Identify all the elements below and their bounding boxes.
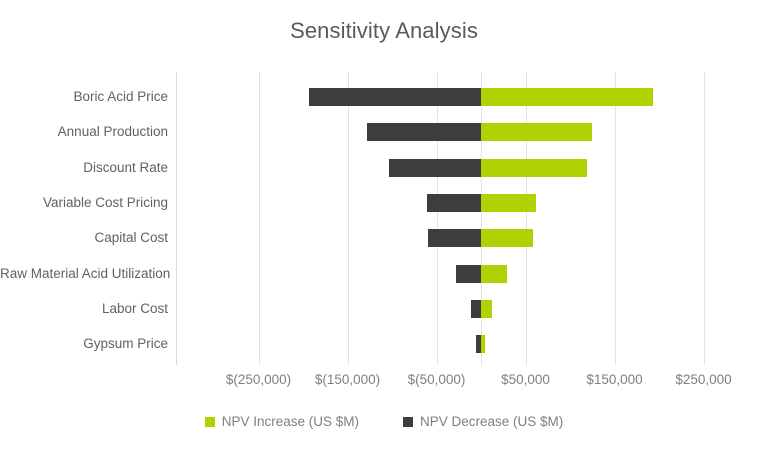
bar-increase xyxy=(481,300,492,318)
category-label: Gypsum Price xyxy=(0,336,168,352)
bar-decrease xyxy=(309,88,481,106)
plot-area xyxy=(176,72,746,365)
bar-increase xyxy=(481,159,587,177)
x-tick-label: $(50,000) xyxy=(408,372,466,387)
bar-increase xyxy=(481,335,485,353)
category-label: Boric Acid Price xyxy=(0,89,168,105)
category-label: Capital Cost xyxy=(0,230,168,246)
gridline-2 xyxy=(437,72,438,365)
category-axis-line xyxy=(176,72,177,365)
legend-entry[interactable]: NPV Decrease (US $M) xyxy=(403,414,563,429)
bar-decrease xyxy=(427,194,481,212)
x-axis-tick-labels: $(250,000)$(150,000)$(50,000)$50,000$150… xyxy=(0,372,768,394)
bar-decrease xyxy=(456,265,481,283)
bar-increase xyxy=(481,123,592,141)
bar-increase xyxy=(481,194,536,212)
bar-row xyxy=(176,300,746,318)
bar-row xyxy=(176,159,746,177)
bar-decrease xyxy=(367,123,481,141)
gridline-5 xyxy=(704,72,705,365)
bar-row xyxy=(176,229,746,247)
bar-increase xyxy=(481,265,507,283)
gridline-3 xyxy=(526,72,527,365)
chart-legend: NPV Increase (US $M)NPV Decrease (US $M) xyxy=(0,414,768,429)
x-tick-label: $(150,000) xyxy=(315,372,380,387)
x-tick-label: $(250,000) xyxy=(226,372,291,387)
bar-row xyxy=(176,194,746,212)
x-tick-label: $150,000 xyxy=(586,372,642,387)
category-axis: Boric Acid PriceAnnual ProductionDiscoun… xyxy=(0,72,168,365)
bar-row xyxy=(176,265,746,283)
bar-decrease xyxy=(428,229,481,247)
bar-decrease xyxy=(471,300,481,318)
legend-label: NPV Increase (US $M) xyxy=(222,414,359,429)
legend-swatch-icon xyxy=(205,417,215,427)
category-label: Annual Production xyxy=(0,124,168,140)
bar-increase xyxy=(481,229,533,247)
category-label: Labor Cost xyxy=(0,301,168,317)
legend-swatch-icon xyxy=(403,417,413,427)
chart-title: Sensitivity Analysis xyxy=(0,18,768,44)
bar-increase xyxy=(481,88,653,106)
bar-row xyxy=(176,88,746,106)
x-tick-label: $50,000 xyxy=(501,372,550,387)
legend-label: NPV Decrease (US $M) xyxy=(420,414,563,429)
category-label: Raw Material Acid Utilization xyxy=(0,266,168,282)
legend-entry[interactable]: NPV Increase (US $M) xyxy=(205,414,359,429)
bar-row xyxy=(176,335,746,353)
gridline-4 xyxy=(615,72,616,365)
gridline-0 xyxy=(259,72,260,365)
category-label: Discount Rate xyxy=(0,160,168,176)
bar-decrease xyxy=(389,159,481,177)
gridline-1 xyxy=(348,72,349,365)
bar-row xyxy=(176,123,746,141)
x-tick-label: $250,000 xyxy=(675,372,731,387)
gridline-zero xyxy=(481,72,482,365)
category-label: Variable Cost Pricing xyxy=(0,195,168,211)
